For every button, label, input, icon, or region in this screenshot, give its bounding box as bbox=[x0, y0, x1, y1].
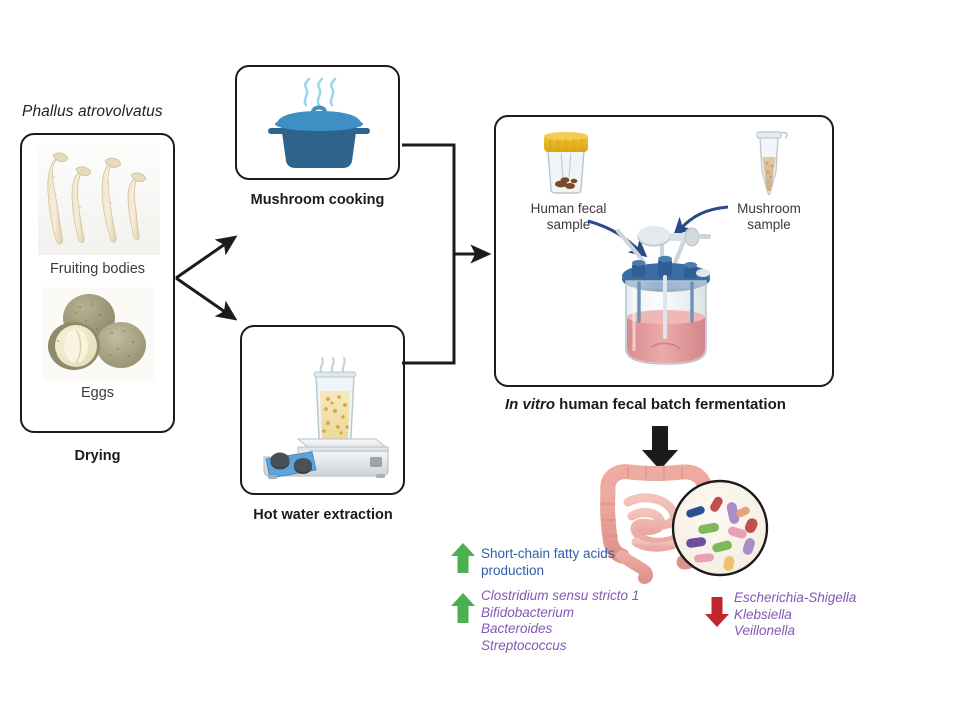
increased-taxon-0: Clostridium sensu stricto 1 bbox=[481, 588, 639, 603]
decreased-taxa-list: Escherichia-Shigella Klebsiella Veillone… bbox=[734, 590, 856, 640]
decreased-taxon-0: Escherichia-Shigella bbox=[734, 590, 856, 605]
increased-taxon-3: Streptococcus bbox=[481, 638, 567, 653]
fermentation-panel[interactable]: Human fecal sample Mushroom sam bbox=[494, 115, 834, 387]
scfa-result-text: Short-chain fatty acids production bbox=[481, 546, 615, 579]
mushroom-cooking-panel[interactable] bbox=[235, 65, 400, 180]
decreased-taxon-2: Veillonella bbox=[734, 623, 795, 638]
up-arrow-icon-scfa bbox=[450, 542, 476, 574]
eggs-caption: Eggs bbox=[22, 385, 173, 401]
split-arrow-icon bbox=[172, 228, 282, 328]
hot-water-extraction-panel[interactable] bbox=[240, 325, 405, 495]
fermentation-caption-rest: human fecal batch fermentation bbox=[555, 396, 786, 413]
hotplate-stirrer-icon bbox=[250, 339, 398, 481]
figure-canvas: Phallus atrovolvatus bbox=[0, 0, 960, 720]
increased-taxa-list: Clostridium sensu stricto 1 Bifidobacter… bbox=[481, 588, 639, 654]
scfa-line2: production bbox=[481, 563, 544, 578]
cooking-pot-icon bbox=[259, 75, 379, 173]
mushroom-eggs-photo bbox=[42, 287, 154, 381]
down-arrow-icon-taxa bbox=[704, 596, 730, 628]
up-arrow-icon-taxa bbox=[450, 592, 476, 624]
merge-arrow-icon bbox=[398, 140, 498, 370]
drying-caption: Drying bbox=[20, 448, 175, 464]
fruiting-bodies-caption: Fruiting bodies bbox=[22, 261, 173, 277]
fermentation-caption-italic: In vitro bbox=[505, 396, 555, 413]
mushroom-cooking-caption: Mushroom cooking bbox=[225, 192, 410, 208]
increased-taxon-2: Bacteroides bbox=[481, 621, 552, 636]
drying-panel[interactable]: Fruiting bodies bbox=[20, 133, 175, 433]
dried-fruiting-bodies-photo bbox=[38, 143, 160, 255]
scfa-line1: Short-chain fatty acids bbox=[481, 546, 615, 561]
hot-water-extraction-caption: Hot water extraction bbox=[228, 507, 418, 523]
species-label: Phallus atrovolvatus bbox=[22, 103, 163, 121]
bioreactor-vessel-icon bbox=[604, 225, 728, 380]
fermentation-caption: In vitro human fecal batch fermentation bbox=[505, 396, 786, 413]
increased-taxon-1: Bifidobacterium bbox=[481, 605, 574, 620]
decreased-taxon-1: Klebsiella bbox=[734, 607, 792, 622]
